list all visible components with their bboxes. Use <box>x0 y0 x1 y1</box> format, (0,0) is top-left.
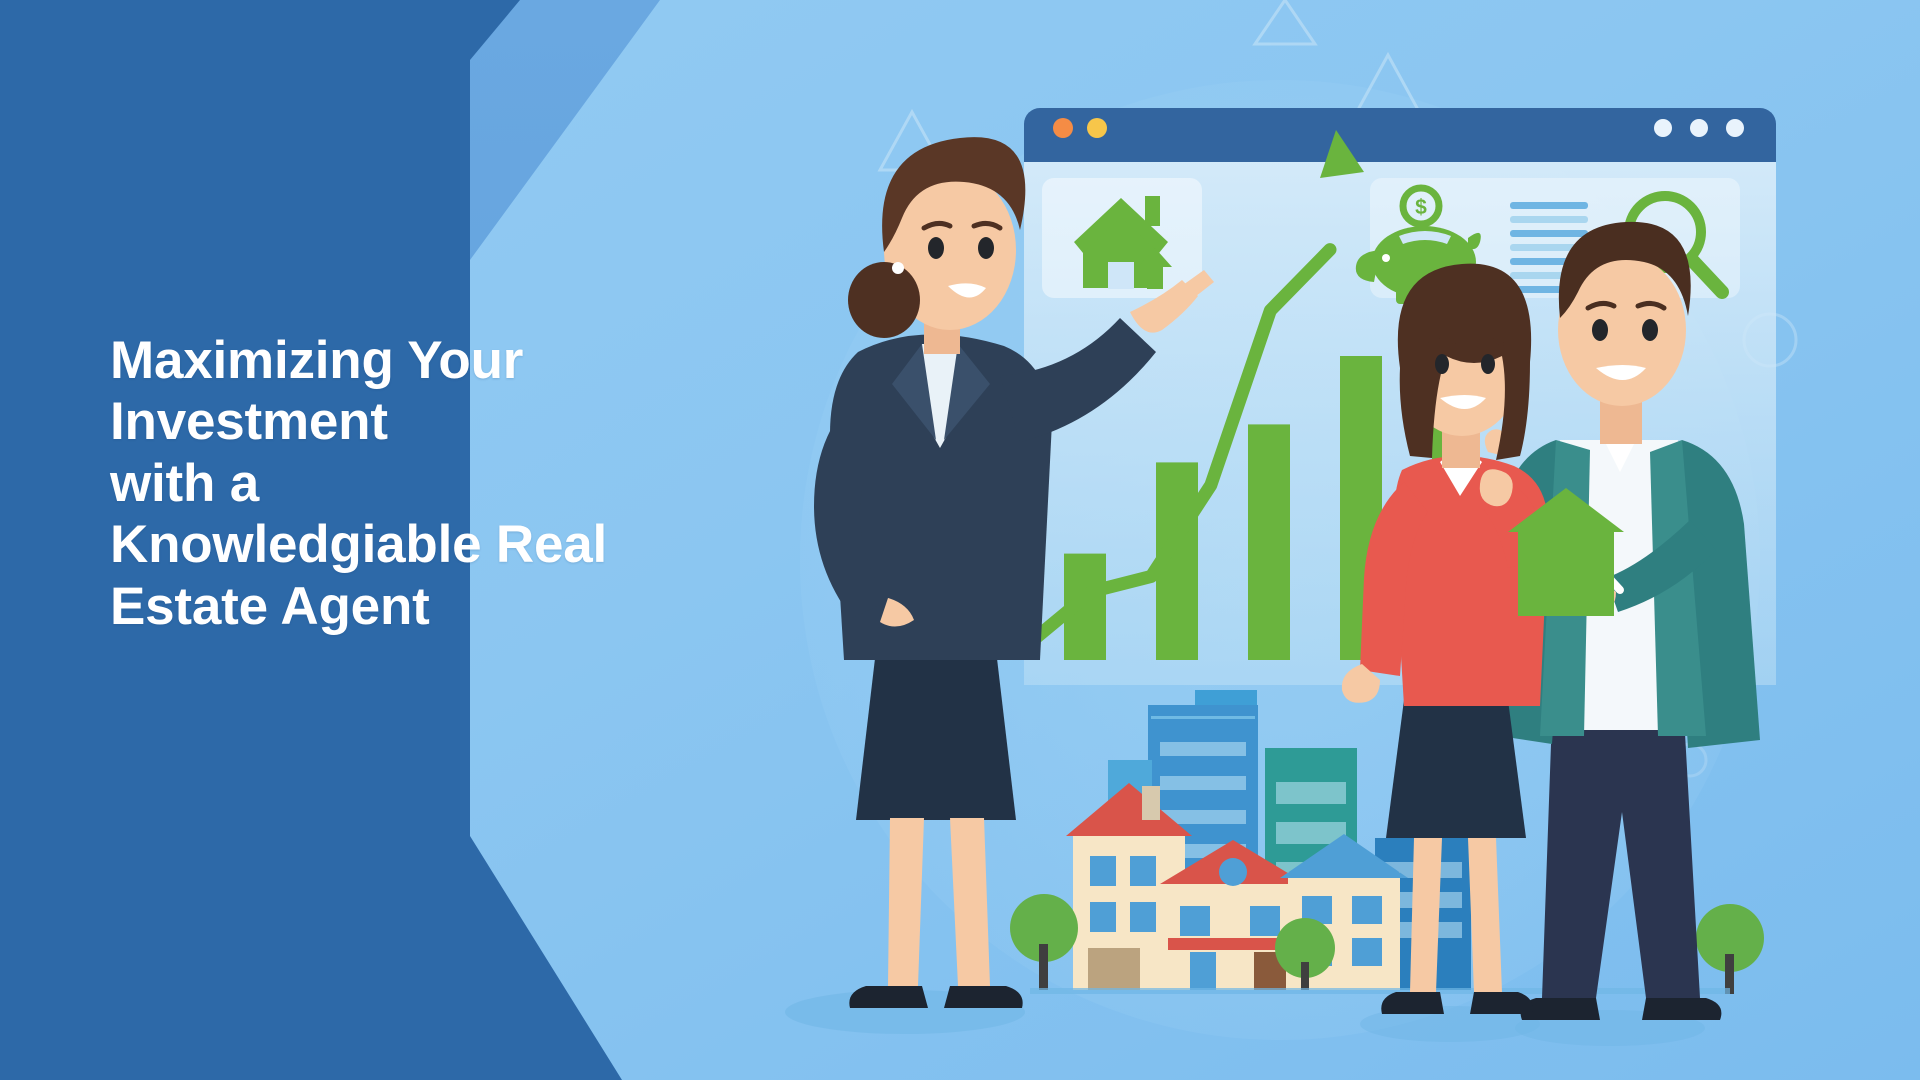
man-trousers <box>1542 716 1700 998</box>
hero-banner: $ <box>0 0 1920 1080</box>
page-title: Maximizing Your Investment with a Knowle… <box>110 330 750 637</box>
woman-skirt <box>1386 700 1526 838</box>
man-shoe <box>1642 998 1721 1020</box>
woman-shoe <box>1381 992 1444 1014</box>
woman-shoe <box>1470 992 1533 1014</box>
man-eye <box>1592 319 1608 341</box>
woman-leg <box>1410 838 1442 992</box>
woman-eye <box>1481 354 1495 374</box>
man-eye <box>1642 319 1658 341</box>
woman-eye <box>1435 354 1449 374</box>
woman-thumb-up <box>1480 469 1513 506</box>
woman-leg <box>1468 838 1502 992</box>
